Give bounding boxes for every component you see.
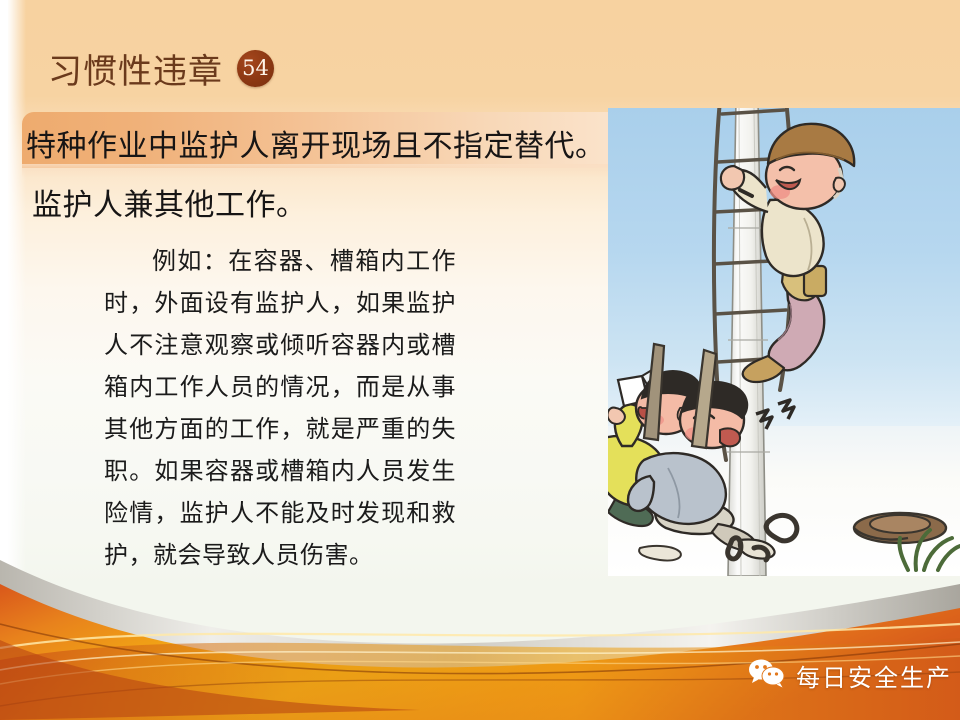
headline-line-2: 监护人兼其他工作。 [32, 180, 307, 224]
footer-brand: 每日安全生产 [748, 658, 952, 692]
cartoon-illustration [608, 108, 960, 576]
illustration-artwork [608, 108, 960, 576]
slide-title-row: 习惯性违章 54 [48, 44, 274, 92]
page-title: 习惯性违章 [48, 44, 223, 93]
wechat-icon [748, 658, 786, 692]
brand-name: 每日安全生产 [796, 658, 952, 693]
status-badge: 54 [237, 50, 274, 87]
headline-line-1: 特种作业中监护人离开现场且不指定替代。 [26, 121, 606, 165]
slide-canvas: 习惯性违章 54 特种作业中监护人离开现场且不指定替代。 监护人兼其他工作。 例… [0, 0, 960, 720]
body-paragraph: 例如：在容器、槽箱内工作时，外面设有监护人，如果监护人不注意观察或倾听容器内或槽… [104, 240, 456, 576]
left-edge-highlight [0, 0, 26, 720]
